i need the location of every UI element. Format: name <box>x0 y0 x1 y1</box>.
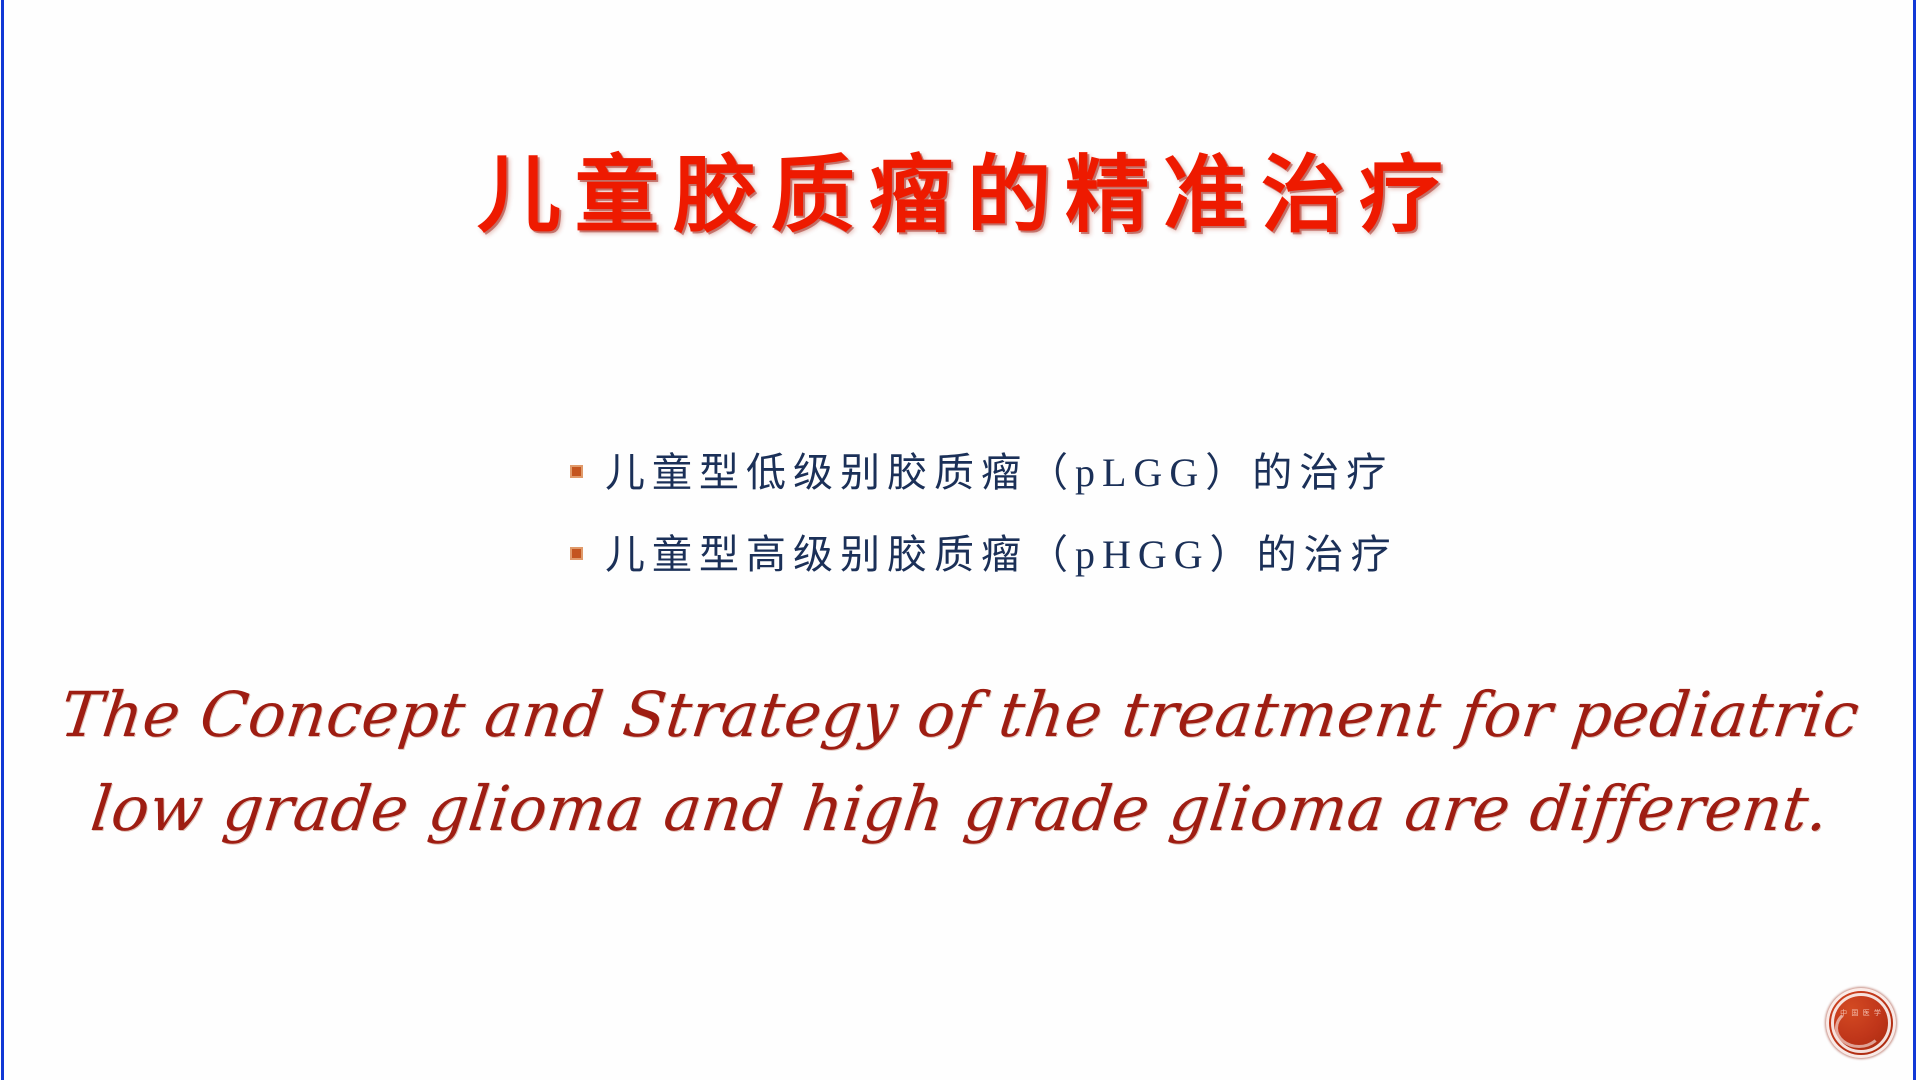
presentation-slide: 儿童胶质瘤的精准治疗 儿童型低级别胶质瘤（pLGG）的治疗 儿童型高级别胶质瘤（… <box>0 0 1920 1080</box>
bullet-list: 儿童型低级别胶质瘤（pLGG）的治疗 儿童型高级别胶质瘤（pHGG）的治疗 <box>0 440 1920 604</box>
script-note-line-1: The Concept and Strategy of the treatmen… <box>0 668 1920 762</box>
list-item: 儿童型低级别胶质瘤（pLGG）的治疗 <box>0 440 1920 498</box>
list-item: 儿童型高级别胶质瘤（pHGG）的治疗 <box>0 522 1920 580</box>
slide-content: 儿童胶质瘤的精准治疗 儿童型低级别胶质瘤（pLGG）的治疗 儿童型高级别胶质瘤（… <box>0 0 1920 1080</box>
seal-inscription: 中 国 医 学 <box>1826 1008 1896 1018</box>
square-bullet-icon <box>570 465 583 478</box>
square-bullet-icon <box>570 547 583 560</box>
seal-logo-icon: 中 国 医 学 <box>1826 988 1896 1058</box>
bullet-item-label-plgg: 儿童型低级别胶质瘤（pLGG）的治疗 <box>605 440 1393 498</box>
slide-title: 儿童胶质瘤的精准治疗 <box>0 148 1920 242</box>
bullet-item-label-phgg: 儿童型高级别胶质瘤（pHGG）的治疗 <box>605 522 1398 580</box>
script-note: The Concept and Strategy of the treatmen… <box>0 668 1920 856</box>
script-note-line-2: low grade glioma and high grade glioma a… <box>0 762 1920 856</box>
